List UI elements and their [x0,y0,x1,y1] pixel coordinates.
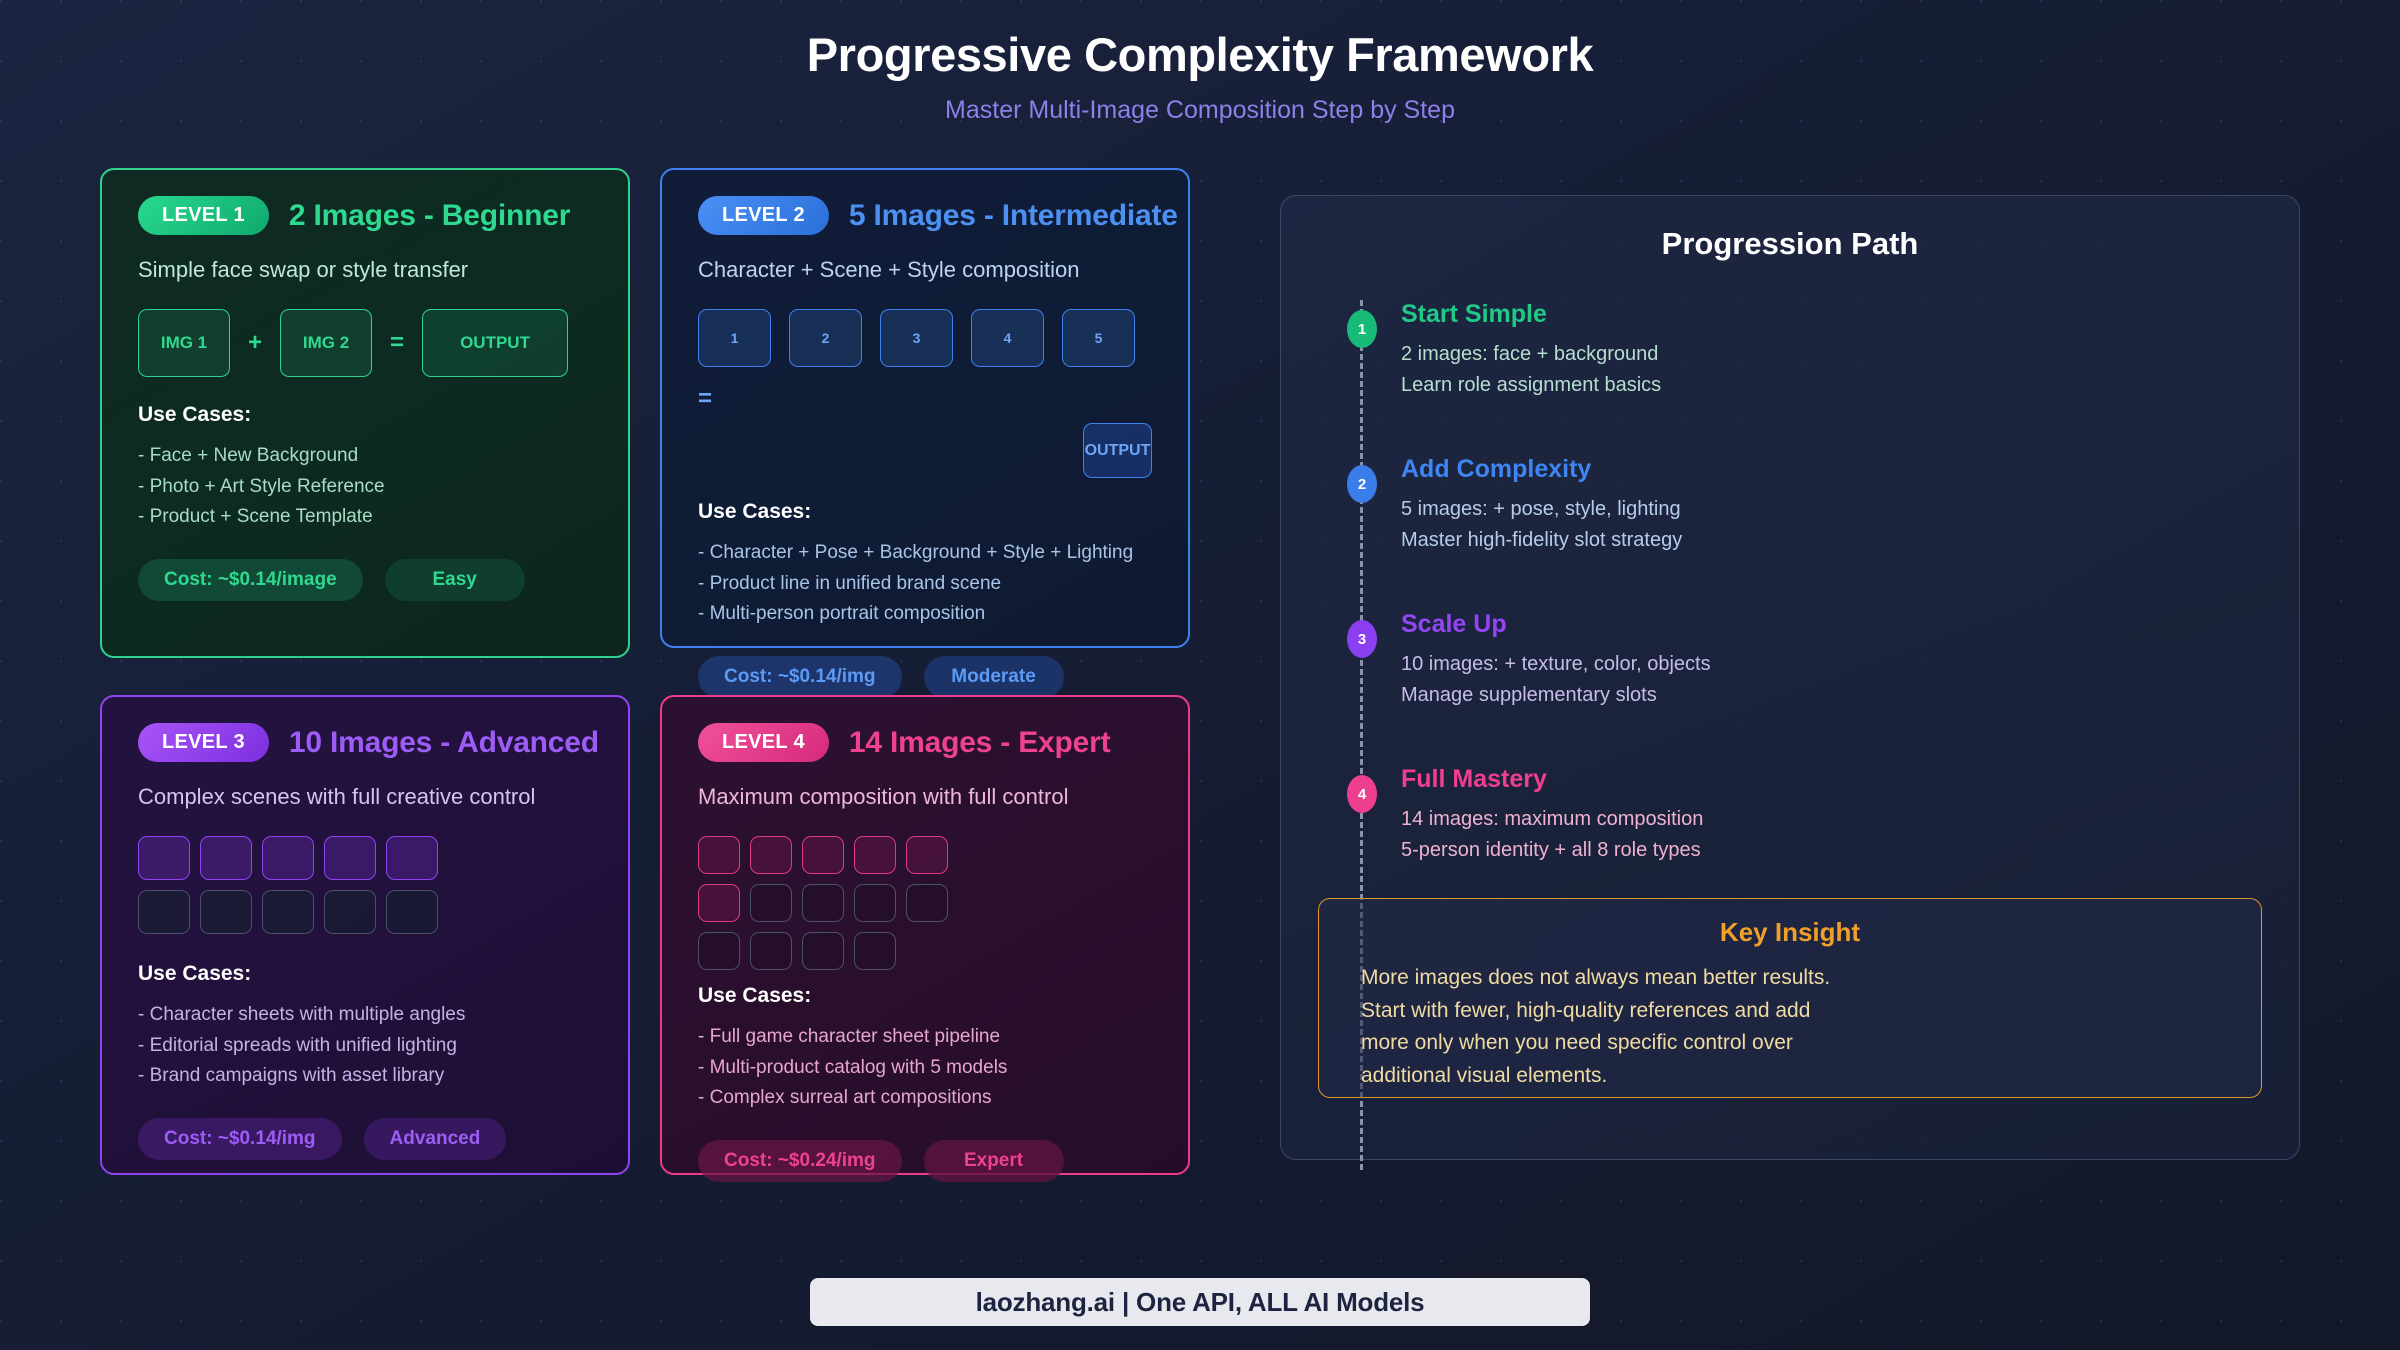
step-3-marker: 3 [1347,620,1377,658]
level-4-slot[interactable] [854,884,896,922]
level-3-slot[interactable] [324,836,376,880]
level-2-header: LEVEL 2 5 Images - Intermediate [698,196,1152,235]
level-2-output[interactable]: OUTPUT [1083,423,1152,478]
level-2-badge: LEVEL 2 [698,196,829,235]
level-2-slot-4[interactable]: 4 [971,309,1044,367]
level-3-slot-row [138,836,592,880]
level-2-output-row: OUTPUT [1083,423,1152,478]
level-3-usecase: - Character sheets with multiple angles [138,1000,592,1030]
level-2-slot-2[interactable]: 2 [789,309,862,367]
level-4-slot[interactable] [906,884,948,922]
level-4-slot[interactable] [854,932,896,970]
infographic-root: Progressive Complexity Framework Master … [0,0,2400,1350]
step-2-marker: 2 [1347,465,1377,503]
level-3-slot-grid [138,836,592,934]
key-insight-line: more only when you need specific control… [1361,1027,2219,1060]
level-card-4[interactable]: LEVEL 4 14 Images - Expert Maximum compo… [660,695,1190,1175]
step-1-marker: 1 [1347,310,1377,348]
level-3-cost-badge: Cost: ~$0.14/img [138,1118,342,1160]
step-1-title: Start Simple [1401,300,2259,329]
progression-timeline: 1 Start Simple 2 images: face + backgrou… [1321,300,2259,866]
level-4-slot[interactable] [750,884,792,922]
level-1-usecase: - Face + New Background [138,441,592,471]
step-1-detail: Learn role assignment basics [1401,370,2259,401]
level-3-slot[interactable] [324,890,376,934]
step-4-marker: 4 [1347,775,1377,813]
level-1-slot-1[interactable]: IMG 1 [138,309,230,377]
level-4-slot[interactable] [802,836,844,874]
level-4-slot[interactable] [802,932,844,970]
level-4-cost-badge: Cost: ~$0.24/img [698,1140,902,1182]
level-4-slot-grid [698,836,1152,970]
level-4-slot[interactable] [906,836,948,874]
level-4-slot[interactable] [698,884,740,922]
level-2-usecases: Use Cases: - Character + Pose + Backgrou… [698,500,1152,629]
level-4-usecases: Use Cases: - Full game character sheet p… [698,984,1152,1113]
level-3-slot[interactable] [262,836,314,880]
level-2-title: 5 Images - Intermediate [849,199,1178,233]
level-1-usecase: - Photo + Art Style Reference [138,472,592,502]
level-3-slot[interactable] [200,836,252,880]
level-4-difficulty-badge: Expert [924,1140,1064,1182]
level-2-usecase: - Multi-person portrait composition [698,599,1152,629]
level-card-1[interactable]: LEVEL 1 2 Images - Beginner Simple face … [100,168,630,658]
step-4-detail: 14 images: maximum composition [1401,804,2259,835]
level-1-slot-2[interactable]: IMG 2 [280,309,372,377]
level-3-badge: LEVEL 3 [138,723,269,762]
level-4-usecases-label: Use Cases: [698,984,1152,1008]
step-2-detail: 5 images: + pose, style, lighting [1401,494,2259,525]
level-4-pills: Cost: ~$0.24/img Expert [698,1140,1152,1182]
progression-step-3[interactable]: 3 Scale Up 10 images: + texture, color, … [1401,610,2259,711]
step-3-detail: 10 images: + texture, color, objects [1401,649,2259,680]
level-4-slot-row [698,836,1152,874]
level-2-description: Character + Scene + Style composition [698,257,1152,283]
step-2-title: Add Complexity [1401,455,2259,484]
level-4-slot[interactable] [802,884,844,922]
level-4-usecase: - Multi-product catalog with 5 models [698,1053,1152,1083]
equals-icon: = [698,385,712,413]
level-3-slot[interactable] [386,836,438,880]
page-subtitle: Master Multi-Image Composition Step by S… [0,96,2400,125]
progression-step-2[interactable]: 2 Add Complexity 5 images: + pose, style… [1401,455,2259,556]
level-3-header: LEVEL 3 10 Images - Advanced [138,723,592,762]
step-3-detail: Manage supplementary slots [1401,680,2259,711]
level-2-usecase: - Product line in unified brand scene [698,569,1152,599]
level-4-header: LEVEL 4 14 Images - Expert [698,723,1152,762]
progression-title: Progression Path [1321,226,2259,262]
level-3-slot[interactable] [138,836,190,880]
level-4-badge: LEVEL 4 [698,723,829,762]
footer-text: laozhang.ai | One API, ALL AI Models [976,1287,1425,1318]
step-3-title: Scale Up [1401,610,2259,639]
level-card-2[interactable]: LEVEL 2 5 Images - Intermediate Characte… [660,168,1190,648]
level-card-3[interactable]: LEVEL 3 10 Images - Advanced Complex sce… [100,695,630,1175]
level-4-slot-row [698,884,1152,922]
level-2-usecase: - Character + Pose + Background + Style … [698,538,1152,568]
level-1-usecases-label: Use Cases: [138,403,592,427]
level-2-cost-badge: Cost: ~$0.14/img [698,656,902,698]
level-4-slot[interactable] [698,932,740,970]
progression-step-1[interactable]: 1 Start Simple 2 images: face + backgrou… [1401,300,2259,401]
level-2-slot-1[interactable]: 1 [698,309,771,367]
level-4-slot[interactable] [750,932,792,970]
level-2-usecases-label: Use Cases: [698,500,1152,524]
key-insight-line: More images does not always mean better … [1361,962,2219,995]
progression-step-4[interactable]: 4 Full Mastery 14 images: maximum compos… [1401,765,2259,866]
key-insight-title: Key Insight [1361,917,2219,948]
level-4-slot[interactable] [854,836,896,874]
step-2-detail: Master high-fidelity slot strategy [1401,525,2259,556]
level-2-slot-5[interactable]: 5 [1062,309,1135,367]
level-1-header: LEVEL 1 2 Images - Beginner [138,196,592,235]
header: Progressive Complexity Framework Master … [0,28,2400,125]
step-1-detail: 2 images: face + background [1401,339,2259,370]
step-4-detail: 5-person identity + all 8 role types [1401,835,2259,866]
key-insight-box: Key Insight More images does not always … [1318,898,2262,1098]
level-4-slot[interactable] [750,836,792,874]
level-2-diagram: 1 2 3 4 5 = [698,309,1152,413]
level-1-output[interactable]: OUTPUT [422,309,568,377]
key-insight-line: additional visual elements. [1361,1060,2219,1093]
level-3-slot[interactable] [262,890,314,934]
level-2-difficulty-badge: Moderate [924,656,1064,698]
level-3-slot[interactable] [200,890,252,934]
plus-icon: + [248,329,262,357]
level-3-slot[interactable] [386,890,438,934]
level-4-usecase: - Full game character sheet pipeline [698,1022,1152,1052]
equals-icon: = [390,329,404,357]
level-3-usecase: - Editorial spreads with unified lightin… [138,1031,592,1061]
level-1-description: Simple face swap or style transfer [138,257,592,283]
level-1-usecase: - Product + Scene Template [138,502,592,532]
page-title: Progressive Complexity Framework [0,28,2400,82]
level-3-description: Complex scenes with full creative contro… [138,784,592,810]
level-1-diagram: IMG 1 + IMG 2 = OUTPUT [138,309,592,377]
level-4-slot-row [698,932,1152,970]
level-1-title: 2 Images - Beginner [289,199,570,233]
level-3-slot[interactable] [138,890,190,934]
level-3-usecase: - Brand campaigns with asset library [138,1061,592,1091]
level-1-cost-badge: Cost: ~$0.14/image [138,559,363,601]
key-insight-line: Start with fewer, high-quality reference… [1361,995,2219,1028]
level-4-usecase: - Complex surreal art compositions [698,1083,1152,1113]
level-2-slot-3[interactable]: 3 [880,309,953,367]
level-3-pills: Cost: ~$0.14/img Advanced [138,1118,592,1160]
level-4-description: Maximum composition with full control [698,784,1152,810]
level-1-pills: Cost: ~$0.14/image Easy [138,559,592,601]
level-4-slot[interactable] [698,836,740,874]
level-1-usecases: Use Cases: - Face + New Background - Pho… [138,403,592,532]
level-2-pills: Cost: ~$0.14/img Moderate [698,656,1152,698]
level-3-difficulty-badge: Advanced [364,1118,507,1160]
level-3-usecases-label: Use Cases: [138,962,592,986]
level-1-difficulty-badge: Easy [385,559,525,601]
level-3-slot-row [138,890,592,934]
level-3-title: 10 Images - Advanced [289,726,599,760]
level-1-badge: LEVEL 1 [138,196,269,235]
step-4-title: Full Mastery [1401,765,2259,794]
level-3-usecases: Use Cases: - Character sheets with multi… [138,962,592,1091]
level-4-title: 14 Images - Expert [849,726,1111,760]
footer-banner[interactable]: laozhang.ai | One API, ALL AI Models [810,1278,1590,1326]
